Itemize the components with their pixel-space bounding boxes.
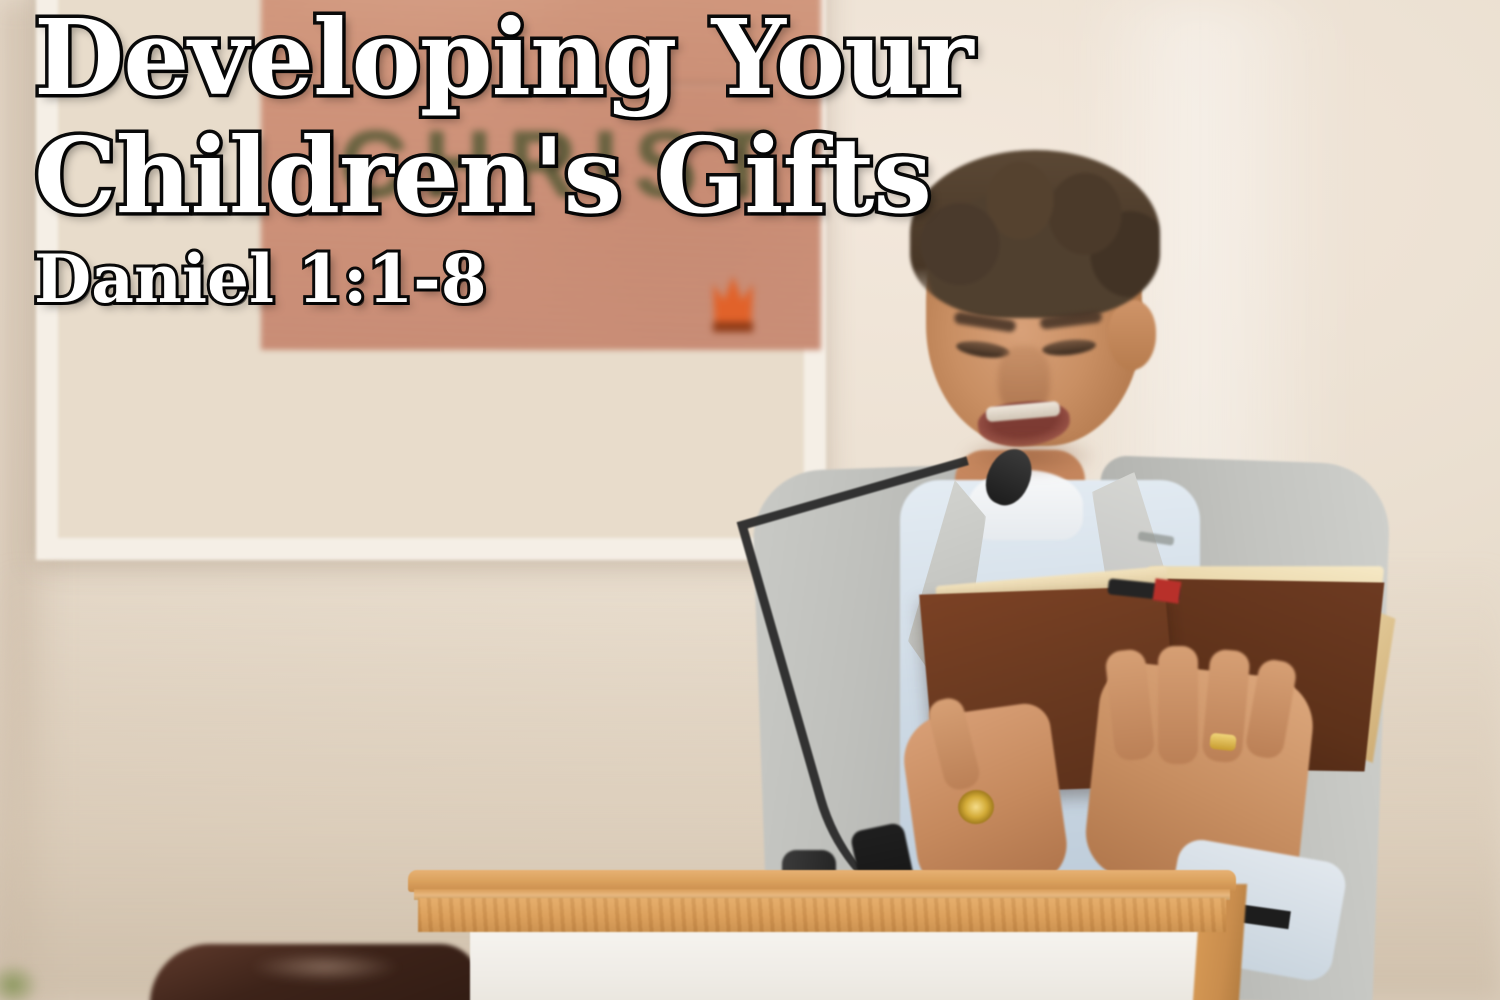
potted-plant	[0, 955, 48, 1000]
sermon-title-line-2: Children's Gifts	[34, 126, 1154, 226]
sermon-title-line-1: Developing Your	[34, 8, 1154, 108]
wedding-ring	[1209, 733, 1237, 752]
finger-middle-right	[1158, 646, 1198, 764]
bible-ribbon-marker	[1153, 578, 1182, 603]
scripture-reference: Daniel 1:1-8	[34, 248, 1154, 311]
sermon-title-slide: J CHRIST	[0, 0, 1500, 1000]
title-overlay: Developing Your Children's Gifts Daniel …	[34, 8, 1154, 311]
chair-highlight	[250, 952, 400, 982]
podium-wood-face	[418, 898, 1226, 932]
podium-top-rail	[408, 870, 1236, 932]
